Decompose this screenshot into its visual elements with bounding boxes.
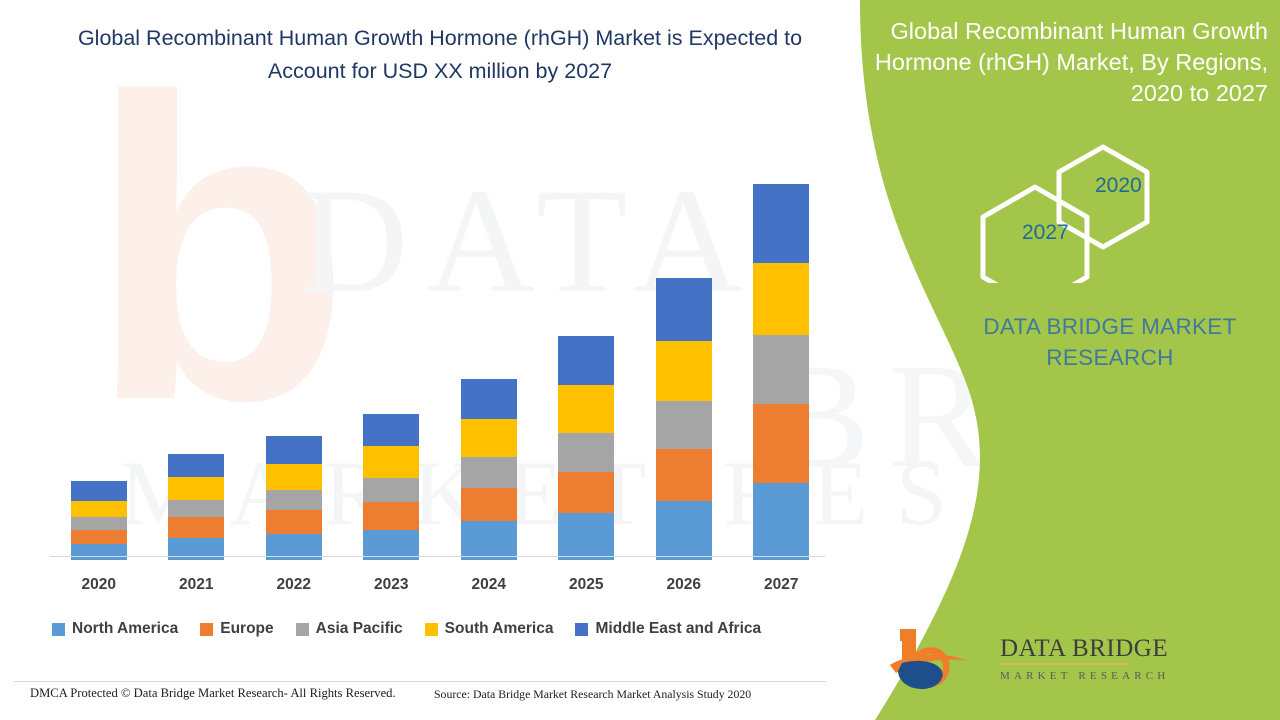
x-label-2020: 2020	[54, 576, 144, 594]
bar-segment	[461, 488, 517, 522]
bar-segment	[363, 478, 419, 502]
bar-2023	[363, 414, 419, 560]
legend-swatch	[575, 623, 588, 636]
bar-segment	[461, 379, 517, 419]
bar-segment	[71, 544, 127, 560]
infographic-canvas: b DATA BRIDGE MARKET RESEARCH Global Rec…	[0, 0, 1280, 720]
x-label-2023: 2023	[346, 576, 436, 594]
logo-wordmark: DATA BRIDGE MARKET RESEARCH	[1000, 636, 1169, 682]
x-axis-labels: 20202021202220232024202520262027	[50, 576, 830, 600]
bar-segment	[168, 517, 224, 537]
legend-label: Europe	[220, 620, 273, 638]
bar-2020	[71, 481, 127, 560]
bar-segment	[656, 401, 712, 450]
hexagon-group	[975, 143, 1175, 283]
logo-main-text: DATA BRIDGE	[1000, 636, 1169, 662]
logo-d-mark	[898, 661, 943, 689]
bar-segment	[558, 385, 614, 433]
bar-2021	[168, 454, 224, 560]
hexagon-label-end: 2027	[1022, 221, 1069, 245]
bar-2024	[461, 379, 517, 560]
bar-segment	[266, 436, 322, 463]
logo-sub-text: MARKET RESEARCH	[1000, 670, 1169, 682]
bar-segment	[168, 500, 224, 517]
legend-label: Asia Pacific	[316, 620, 403, 638]
bar-segment	[71, 481, 127, 501]
legend-swatch	[200, 623, 213, 636]
bar-segment	[168, 477, 224, 500]
footer-divider	[14, 681, 826, 682]
bar-2026	[656, 278, 712, 560]
chart-title: Global Recombinant Human Growth Hormone …	[60, 22, 820, 88]
bar-segment	[71, 517, 127, 529]
bar-segment	[461, 457, 517, 487]
bar-segment	[71, 501, 127, 517]
legend-swatch	[52, 623, 65, 636]
x-label-2024: 2024	[444, 576, 534, 594]
legend-item-asia-pacific[interactable]: Asia Pacific	[296, 620, 403, 638]
x-axis-line	[50, 556, 825, 557]
legend-label: South America	[445, 620, 554, 638]
hexagon-label-start: 2020	[1095, 174, 1142, 198]
bar-segment	[266, 510, 322, 533]
brand-name-text: DATA BRIDGE MARKET RESEARCH	[960, 311, 1260, 373]
legend-label: North America	[72, 620, 178, 638]
x-label-2026: 2026	[639, 576, 729, 594]
bar-segment	[71, 530, 127, 544]
bar-segment	[363, 446, 419, 477]
bar-segment	[656, 341, 712, 401]
logo-rule	[1000, 663, 1132, 665]
stacked-bar-chart	[50, 170, 830, 560]
bar-segment	[461, 419, 517, 458]
footer-copyright: DMCA Protected © Data Bridge Market Rese…	[30, 686, 396, 701]
chart-legend: North AmericaEuropeAsia PacificSouth Ame…	[52, 617, 783, 641]
legend-label: Middle East and Africa	[595, 620, 761, 638]
bar-segment	[266, 464, 322, 490]
bar-segment	[656, 501, 712, 560]
bar-segment	[266, 490, 322, 510]
legend-swatch	[296, 623, 309, 636]
x-label-2021: 2021	[151, 576, 241, 594]
bar-segment	[558, 513, 614, 560]
bar-2025	[558, 336, 614, 560]
legend-item-middle-east-and-africa[interactable]: Middle East and Africa	[575, 620, 761, 638]
bar-segment	[363, 502, 419, 529]
legend-swatch	[425, 623, 438, 636]
bar-segment	[558, 336, 614, 386]
x-label-2022: 2022	[249, 576, 339, 594]
bar-segment	[363, 414, 419, 447]
bar-segment	[168, 454, 224, 476]
legend-item-europe[interactable]: Europe	[200, 620, 273, 638]
legend-item-north-america[interactable]: North America	[52, 620, 178, 638]
x-label-2025: 2025	[541, 576, 631, 594]
bar-segment	[558, 472, 614, 514]
bar-segment	[461, 521, 517, 560]
bar-segment	[656, 278, 712, 341]
bar-2022	[266, 436, 322, 560]
bar-segment	[558, 433, 614, 472]
footer-source: Source: Data Bridge Market Research Mark…	[434, 687, 751, 702]
bar-segment	[656, 449, 712, 501]
legend-item-south-america[interactable]: South America	[425, 620, 554, 638]
panel-title: Global Recombinant Human Growth Hormone …	[860, 16, 1268, 109]
